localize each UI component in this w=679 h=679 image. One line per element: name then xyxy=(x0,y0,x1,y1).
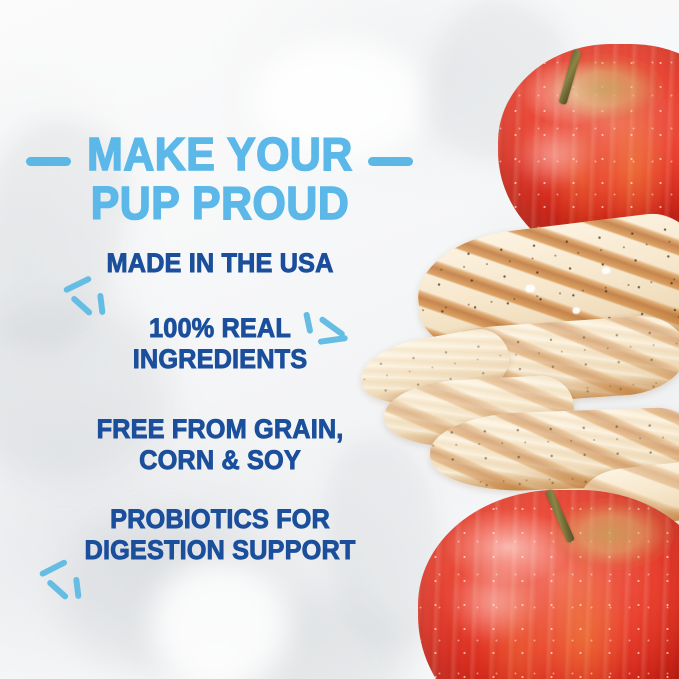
claim-line: INGREDIENTS xyxy=(13,344,427,375)
claim-line: MADE IN THE USA xyxy=(13,248,427,279)
claim-probiotics: PROBIOTICS FOR DIGESTION SUPPORT xyxy=(13,504,427,566)
sparkle-stroke xyxy=(73,577,82,600)
headline-line-2: PUP PROUD xyxy=(15,179,424,228)
background-highlight xyxy=(150,560,290,679)
promo-poster: MAKE YOUR PUP PROUD MADE IN THE USA 100%… xyxy=(0,0,679,679)
claim-free-from: FREE FROM GRAIN, CORN & SOY xyxy=(13,414,427,476)
claim-line: PROBIOTICS FOR xyxy=(13,504,427,535)
headline: MAKE YOUR PUP PROUD xyxy=(15,130,424,228)
claim-line: CORN & SOY xyxy=(13,445,427,476)
claim-made-in-usa: MADE IN THE USA xyxy=(13,248,427,279)
claim-real-ingredients: 100% REAL INGREDIENTS xyxy=(13,313,427,375)
sparkle-lower-left xyxy=(38,562,88,602)
headline-line-1: MAKE YOUR xyxy=(15,130,424,179)
claim-line: 100% REAL xyxy=(13,313,427,344)
sparkle-stroke xyxy=(46,579,69,601)
claim-line: FREE FROM GRAIN, xyxy=(13,414,427,445)
claim-line: DIGESTION SUPPORT xyxy=(13,535,427,566)
sparkle-stroke xyxy=(97,293,106,316)
